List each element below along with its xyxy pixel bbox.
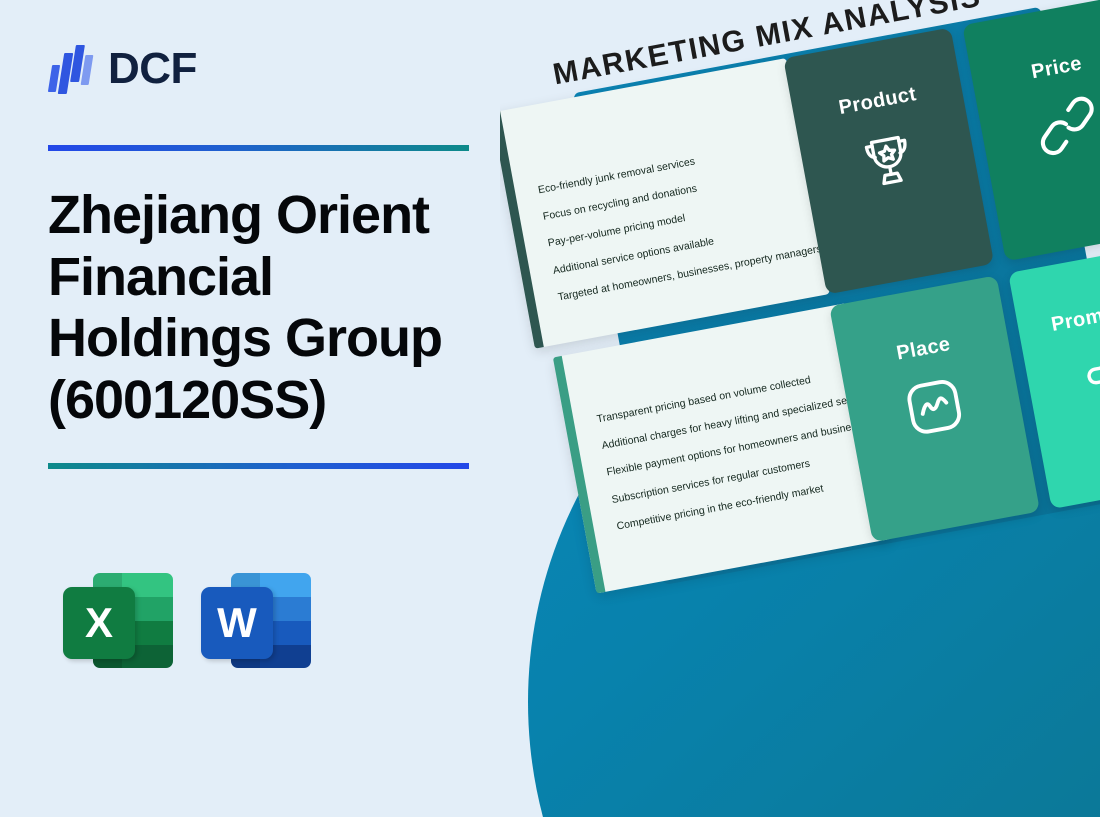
price-card-spine xyxy=(553,356,606,594)
word-download-icon[interactable]: W xyxy=(201,565,311,675)
page-title: Zhejiang Orient Financial Holdings Group… xyxy=(48,185,478,431)
tile-promotion-label: Promotion xyxy=(1050,295,1100,336)
price-bullet-list: Transparent pricing based on volume coll… xyxy=(596,366,871,546)
title-block: Zhejiang Orient Financial Holdings Group… xyxy=(48,185,478,431)
brand-logo[interactable]: DCF xyxy=(48,36,518,102)
download-icons: X W xyxy=(63,565,518,675)
excel-download-icon[interactable]: X xyxy=(63,565,173,675)
dcf-bars-logo-icon xyxy=(48,43,94,95)
divider-bottom xyxy=(48,463,469,469)
activity-icon xyxy=(898,371,970,443)
product-bullet-list: Eco-friendly junk removal services Focus… xyxy=(537,137,812,317)
trophy-icon xyxy=(852,123,924,195)
left-column: DCF Zhejiang Orient Financial Holdings G… xyxy=(48,36,518,675)
brand-logo-text: DCF xyxy=(108,47,197,91)
link-icon xyxy=(1031,90,1100,162)
marketing-mix-board: MARKETING MIX ANALYSIS Eco-friendly junk… xyxy=(500,0,1100,670)
divider-top xyxy=(48,145,469,151)
tile-place-label: Place xyxy=(895,333,953,366)
tile-price-label: Price xyxy=(1029,52,1083,84)
word-letter: W xyxy=(201,587,273,659)
megaphone-icon xyxy=(1077,338,1100,410)
tile-product-label: Product xyxy=(837,83,918,120)
marketing-mix-artwork: MARKETING MIX ANALYSIS Eco-friendly junk… xyxy=(500,0,1100,817)
cover-page: DCF Zhejiang Orient Financial Holdings G… xyxy=(0,0,1100,817)
excel-letter: X xyxy=(63,587,135,659)
